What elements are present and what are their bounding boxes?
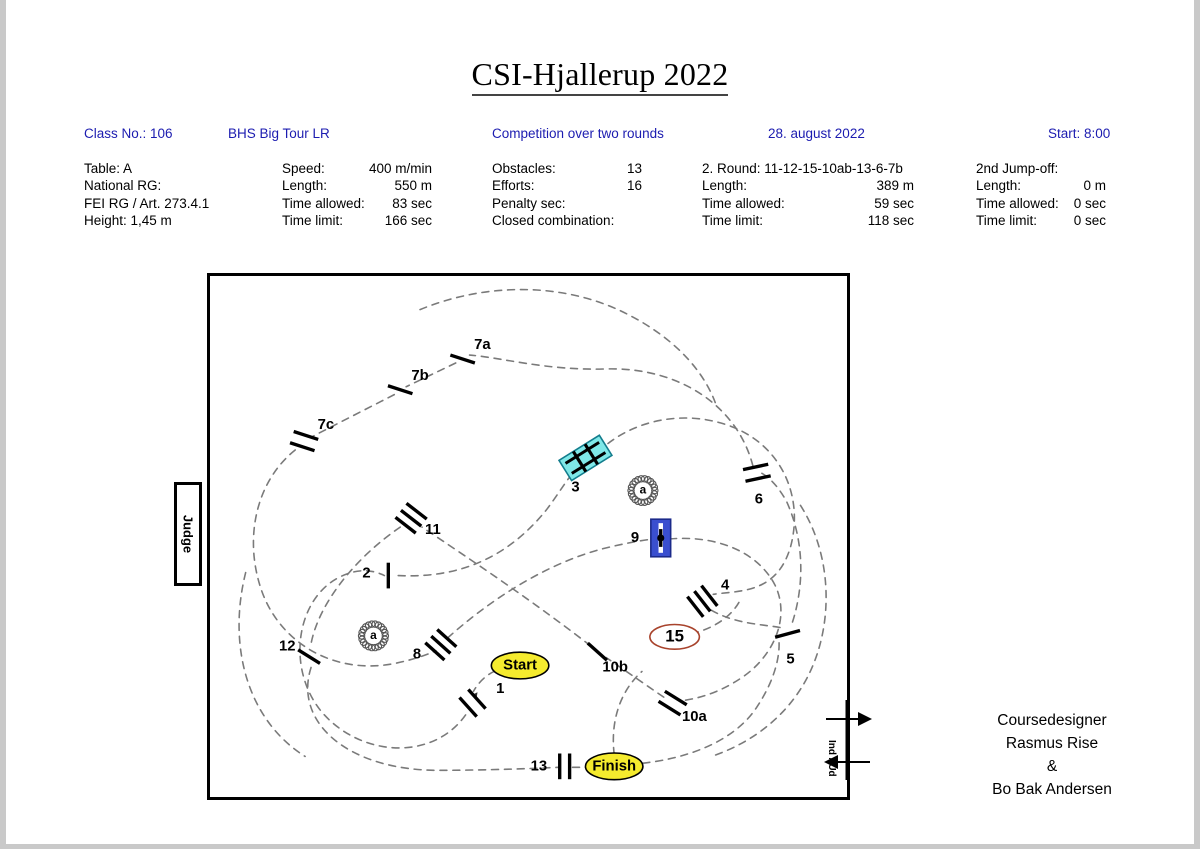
spec-row: Time limit:118 sec (702, 212, 932, 229)
obstacle-3: 3 (552, 435, 621, 499)
spec-key: Time limit: (702, 212, 763, 229)
obstacle-label-7a: 7a (474, 337, 491, 353)
finish-label: Finish (592, 758, 636, 774)
obstacle-label-7b: 7b (411, 368, 428, 384)
obstacle-10a: 10a (655, 685, 715, 737)
spec-value: 83 sec (392, 195, 432, 212)
course-diagram: 1234567a7b7c8910a10b11121315 aa StartFin… (210, 276, 847, 797)
page-title: CSI-Hjallerup 2022 (0, 56, 1200, 93)
obstacle-6: 6 (743, 464, 777, 509)
obstacle-label-9: 9 (631, 530, 639, 546)
course-designer-block: Coursedesigner Rasmus Rise & Bo Bak Ande… (912, 709, 1192, 801)
spec-value: 166 sec (385, 212, 432, 229)
spec-row: 2nd Jump-off: (976, 160, 1116, 177)
spec-key: Height: 1,45 m (84, 212, 172, 229)
decoration-bush: a (628, 476, 658, 506)
obstacle-label-3: 3 (571, 479, 579, 495)
obstacle-label-12: 12 (279, 639, 296, 655)
spec-row: Time limit:166 sec (282, 212, 432, 229)
obstacle-label-10b: 10b (602, 659, 628, 675)
designer-name-2: Bo Bak Andersen (912, 778, 1192, 801)
spec-row: Obstacles:13 (492, 160, 652, 177)
obstacle-label-7c: 7c (318, 417, 335, 433)
obstacle-7b: 7b (388, 358, 433, 398)
spec-column-obstacles: Obstacles:13Efforts:16Penalty sec:Closed… (492, 160, 652, 230)
page-left-edge (0, 0, 6, 849)
spec-key: Efforts: (492, 177, 535, 194)
obstacle-13: 13 (531, 754, 570, 780)
judge-box: Judge (174, 482, 202, 586)
spec-row: Length:0 m (976, 177, 1116, 194)
obstacle-label-10a: 10a (682, 709, 708, 725)
obstacle-7a: 7a (450, 327, 496, 367)
page-title-text: CSI-Hjallerup 2022 (472, 56, 729, 96)
start-marker: Start (491, 652, 548, 679)
spec-column-round1: Speed:400 m/minLength:550 mTime allowed:… (282, 160, 432, 230)
start-time: Start: 8:00 (1048, 126, 1110, 141)
spec-value: 0 sec (1074, 212, 1106, 229)
spec-key: FEI RG / Art. 273.4.1 (84, 195, 209, 212)
spec-key: Length: (702, 177, 747, 194)
spec-row: Penalty sec: (492, 195, 652, 212)
spec-row: Length:550 m (282, 177, 432, 194)
obstacle-9: 9 (631, 519, 671, 557)
obstacle-label-5: 5 (786, 652, 794, 668)
spec-row: Efforts:16 (492, 177, 652, 194)
course-plan-page: CSI-Hjallerup 2022 Class No.: 106 BHS Bi… (0, 0, 1200, 849)
gate-label: Ind / Ud (826, 740, 837, 777)
obstacle-7c: 7c (290, 407, 339, 455)
competition-format: Competition over two rounds (492, 126, 664, 141)
spec-row: FEI RG / Art. 273.4.1 (84, 195, 284, 212)
page-bottom-edge (0, 844, 1200, 849)
obstacle-10b: 10b (578, 632, 636, 688)
designer-name-1: Rasmus Rise (912, 732, 1192, 755)
spec-value: 400 m/min (369, 160, 432, 177)
spec-row: Time allowed:59 sec (702, 195, 932, 212)
designer-ampersand: & (912, 755, 1192, 778)
spec-row: Time allowed:0 sec (976, 195, 1116, 212)
arena-gate: Ind / Ud (820, 700, 890, 780)
spec-key: Closed combination: (492, 212, 614, 229)
spec-value: 550 m (394, 177, 432, 194)
spec-key: Time limit: (282, 212, 343, 229)
spec-key: Time allowed: (702, 195, 785, 212)
spec-key: Length: (976, 177, 1021, 194)
course-track-lines (239, 290, 826, 771)
spec-key: Time allowed: (282, 195, 365, 212)
spec-key: National RG: (84, 177, 161, 194)
event-date: 28. august 2022 (768, 126, 865, 141)
spec-key: Table: A (84, 160, 132, 177)
obstacle-label-2: 2 (362, 566, 370, 582)
obstacle-label-13: 13 (531, 758, 548, 774)
spec-column-jumpoff: 2nd Jump-off:Length:0 mTime allowed:0 se… (976, 160, 1116, 230)
arena-boundary: 1234567a7b7c8910a10b11121315 aa StartFin… (207, 273, 850, 800)
spec-row: Time allowed:83 sec (282, 195, 432, 212)
spec-row: National RG: (84, 177, 284, 194)
spec-key: Speed: (282, 160, 325, 177)
spec-row: Table: A (84, 160, 284, 177)
spec-key: 2nd Jump-off: (976, 160, 1058, 177)
designer-title: Coursedesigner (912, 709, 1192, 732)
spec-key: Time limit: (976, 212, 1037, 229)
spec-column-general: Table: ANational RG:FEI RG / Art. 273.4.… (84, 160, 284, 230)
spec-value: 16 (627, 177, 642, 194)
obstacle-label-11: 11 (425, 522, 441, 538)
obstacle-4: 4 (687, 569, 739, 617)
obstacle-5: 5 (775, 631, 809, 671)
decoration-label: a (640, 483, 647, 497)
class-number: Class No.: 106 (84, 126, 173, 141)
obstacle-label-15: 15 (665, 626, 684, 645)
spec-key: Obstacles: (492, 160, 556, 177)
start-label: Start (503, 657, 537, 673)
spec-row: 2. Round: 11-12-15-10ab-13-6-7b (702, 160, 932, 177)
spec-column-round2: 2. Round: 11-12-15-10ab-13-6-7bLength:38… (702, 160, 932, 230)
obstacle-label-4: 4 (721, 577, 730, 593)
finish-marker: Finish (585, 753, 642, 780)
obstacle-8: 8 (405, 625, 456, 677)
obstacle-label-8: 8 (413, 647, 421, 663)
obstacle-label-6: 6 (755, 491, 763, 507)
spec-row: Speed:400 m/min (282, 160, 432, 177)
decoration-layer: aa (358, 476, 658, 651)
spec-row: Closed combination: (492, 212, 652, 229)
spec-row: Length:389 m (702, 177, 932, 194)
spec-key: Length: (282, 177, 327, 194)
spec-value: 118 sec (868, 212, 914, 229)
spec-key: Time allowed: (976, 195, 1059, 212)
spec-value: 59 sec (874, 195, 914, 212)
obstacle-15: 15 (650, 624, 700, 649)
spec-key: Penalty sec: (492, 195, 566, 212)
spec-row: Time limit:0 sec (976, 212, 1116, 229)
page-right-edge (1194, 0, 1200, 849)
decoration-label: a (370, 628, 377, 642)
spec-row: Height: 1,45 m (84, 212, 284, 229)
obstacle-layer: 1234567a7b7c8910a10b11121315 (272, 327, 809, 779)
judge-box-label: Judge (181, 515, 196, 553)
spec-value: 0 m (1083, 177, 1106, 194)
spec-value: 0 sec (1074, 195, 1106, 212)
spec-value: 389 m (876, 177, 914, 194)
spec-value: 13 (627, 160, 642, 177)
spec-key: 2. Round: 11-12-15-10ab-13-6-7b (702, 160, 903, 177)
decoration-bush: a (358, 621, 388, 651)
obstacle-label-1: 1 (496, 681, 504, 697)
class-name: BHS Big Tour LR (228, 126, 330, 141)
